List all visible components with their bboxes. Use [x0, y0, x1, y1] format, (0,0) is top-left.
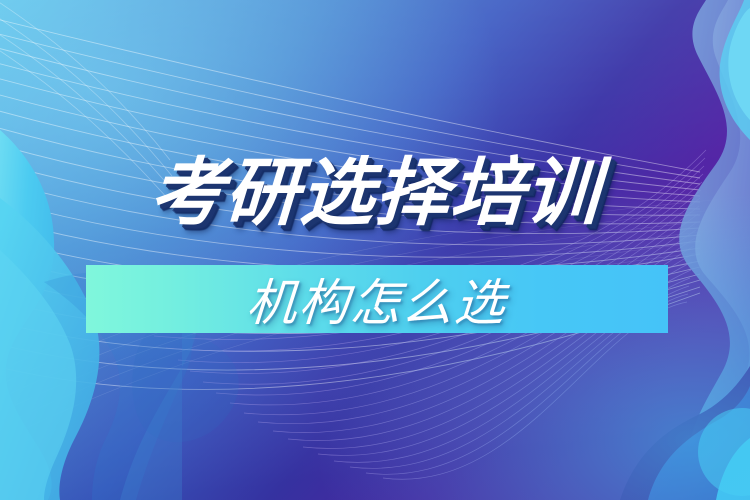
background-artwork: [0, 0, 750, 500]
banner-subtitle: 机构怎么选: [84, 265, 671, 333]
subtitle-bar: 机构怎么选: [86, 265, 668, 333]
promo-banner: 考研选择培训 机构怎么选: [0, 0, 750, 500]
